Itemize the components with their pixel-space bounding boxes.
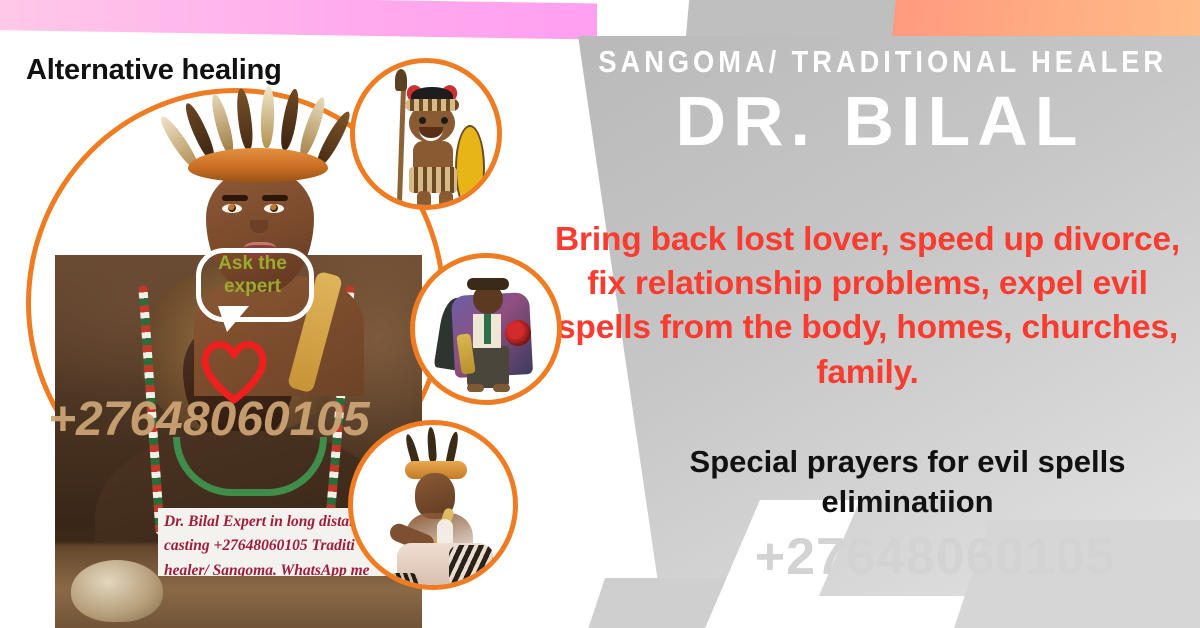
- speech-bubble-text: Ask the expert: [205, 252, 300, 298]
- circle-badge-zulu-warrior: [350, 58, 502, 210]
- services-text: Bring back lost lover, speed up divorce,…: [545, 218, 1190, 395]
- poster-canvas: Alternative healing Ask the e: [0, 0, 1200, 628]
- speech-bubble-tail: [218, 306, 249, 332]
- right-text-column: SANGOMA/ TRADITIONAL HEALER DR. BILAL: [560, 45, 1200, 159]
- heart-icon: [198, 338, 270, 404]
- circle-badge-cloaked-diviner: [410, 253, 562, 405]
- kicker-text: Alternative healing: [26, 54, 282, 87]
- ghost-phone-number: +27648060105: [655, 527, 1200, 587]
- eyebrow-text: SANGOMA/ TRADITIONAL HEALER: [598, 45, 1161, 79]
- circle-badge-crouching-healer: [348, 420, 518, 590]
- subheading-text: Special prayers for evil spells eliminat…: [620, 442, 1195, 521]
- decorative-bar-salmon: [892, 0, 1200, 37]
- decorative-bar-pink: [0, 0, 597, 40]
- page-title: DR. BILAL: [560, 85, 1200, 159]
